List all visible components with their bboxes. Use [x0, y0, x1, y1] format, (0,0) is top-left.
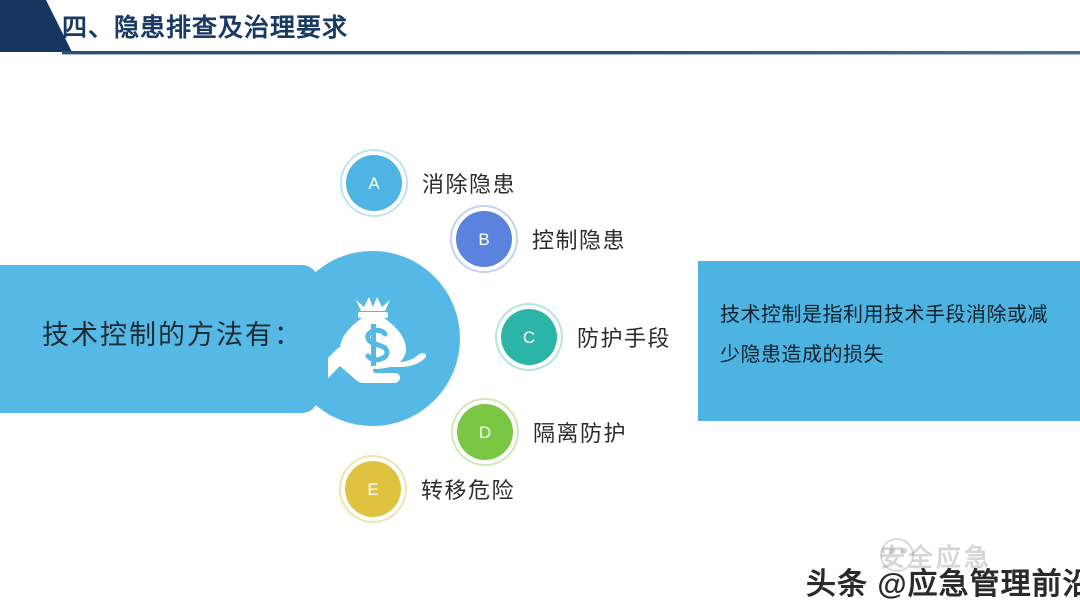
method-item-d[interactable]: D 隔离防护 [457, 404, 627, 460]
badge-d: D [457, 404, 513, 460]
badge-e: E [345, 461, 401, 517]
info-box-text: 技术控制是指利用技术手段消除或减少隐患造成的损失 [720, 295, 1050, 375]
method-label-e: 转移危险 [421, 473, 515, 505]
page-title: 四、隐患排查及治理要求 [62, 8, 348, 44]
method-label-b: 控制隐患 [532, 223, 626, 255]
badge-letter: B [478, 231, 489, 248]
method-item-b[interactable]: B 控制隐患 [456, 211, 626, 267]
method-item-e[interactable]: E 转移危险 [345, 461, 515, 517]
badge-letter: E [367, 481, 378, 498]
badge-letter: C [523, 329, 535, 346]
method-label-a: 消除隐患 [422, 167, 516, 199]
badge-c: C [501, 309, 557, 365]
method-label-d: 隔离防护 [533, 416, 627, 448]
method-label-c: 防护手段 [577, 321, 671, 353]
badge-letter: D [479, 424, 491, 441]
badge-a: A [346, 155, 402, 211]
badge-letter: A [368, 175, 379, 192]
callout-label: 技术控制的方法有： [42, 313, 303, 352]
money-bag-on-hand-icon [318, 286, 428, 394]
slide-header: 四、隐患排查及治理要求 [0, 0, 1080, 62]
info-box: 技术控制是指利用技术手段消除或减少隐患造成的损失 [698, 261, 1080, 421]
badge-b: B [456, 211, 512, 267]
slide-canvas: 四、隐患排查及治理要求 技术控制的方法有： 技术控制是指 [0, 0, 1080, 607]
method-item-c[interactable]: C 防护手段 [501, 309, 671, 365]
method-item-a[interactable]: A 消除隐患 [346, 155, 516, 211]
watermark-text: 头条 @应急管理前沿 [806, 559, 1080, 603]
technical-control-callout: 技术控制的方法有： [0, 251, 460, 426]
header-divider-thin [62, 54, 1080, 55]
